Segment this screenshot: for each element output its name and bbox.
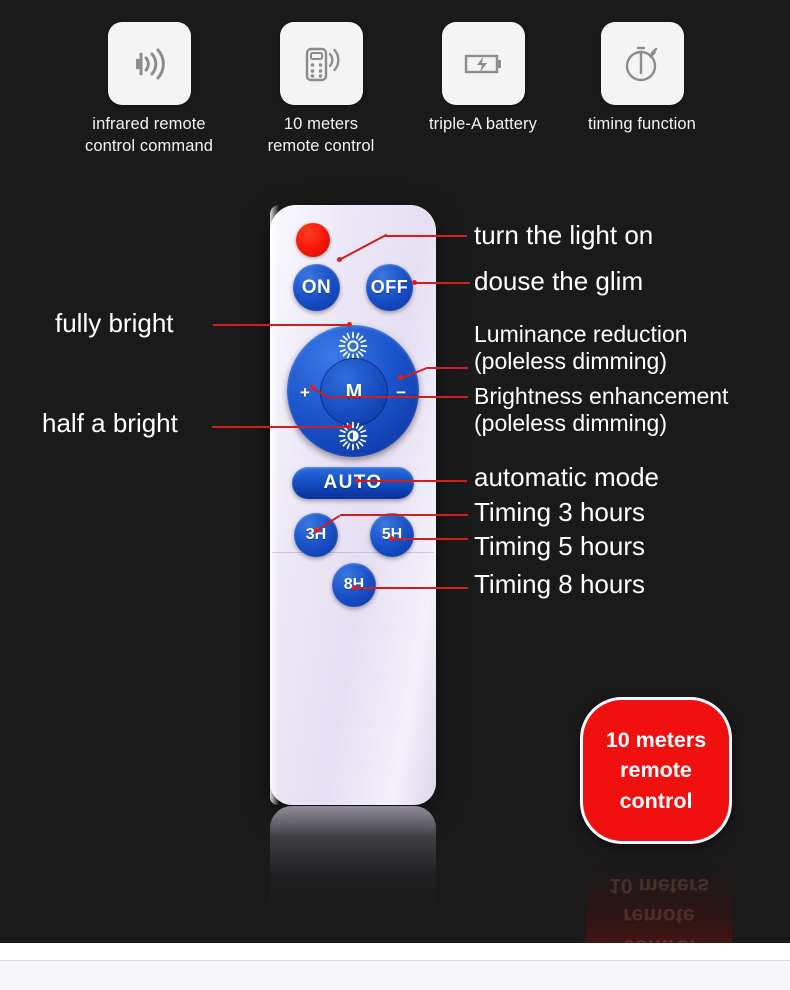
remote-control-body: ON OFF — [270, 205, 436, 805]
feature-triple-a-battery: triple-A battery — [408, 22, 558, 136]
annotation-timing-8-hours: Timing 8 hours — [474, 569, 645, 599]
annotation-timing-5-hours: Timing 5 hours — [474, 531, 645, 561]
leader-automatic-mode — [357, 480, 467, 482]
feature-caption: timing function — [572, 114, 712, 136]
stopwatch-icon — [618, 40, 666, 88]
on-button[interactable]: ON — [293, 264, 340, 311]
annotation-douse-the-glim: douse the glim — [474, 266, 643, 296]
bottom-strip — [0, 960, 790, 990]
annotation-turn-the-light-on: turn the light on — [474, 220, 653, 250]
dimmer-dial[interactable]: + − M — [287, 325, 419, 457]
remote-reflection — [270, 806, 436, 926]
product-feature-image: infrared remote control command — [0, 0, 790, 990]
indicator-led — [296, 223, 330, 257]
feature-caption: 10 meters remote control — [247, 114, 395, 158]
remote-signal-icon — [297, 40, 345, 88]
feature-10-meters-remote: 10 meters remote control — [247, 22, 395, 158]
feature-tile — [108, 22, 191, 105]
badge-reflection-line-2: remote — [623, 901, 695, 932]
range-badge: 10 meters remote control — [580, 697, 732, 844]
off-button[interactable]: OFF — [366, 264, 413, 311]
badge-reflection-line-3: control — [623, 931, 696, 943]
badge-line-3: control — [620, 786, 693, 817]
feature-caption: triple-A battery — [408, 114, 558, 136]
annotation-luminance-reduction: Luminance reduction (poleless dimming) — [474, 321, 688, 374]
leader-half-a-bright — [212, 426, 349, 428]
feature-infrared-remote: infrared remote control command — [63, 22, 235, 158]
badge-line-1: 10 meters — [606, 725, 706, 756]
feature-tile — [280, 22, 363, 105]
annotation-half-a-bright: half a bright — [42, 408, 178, 438]
auto-button[interactable]: AUTO — [292, 467, 414, 499]
feature-caption: infrared remote control command — [63, 114, 235, 158]
feature-tile — [601, 22, 684, 105]
sun-full-icon[interactable] — [338, 331, 368, 361]
battery-door-seam — [272, 552, 434, 553]
white-separator — [0, 943, 790, 960]
annotation-brightness-enhancement: Brightness enhancement (poleless dimming… — [474, 383, 728, 436]
leader-brightness-enhancement — [332, 396, 468, 398]
leader-luminance-reduction — [426, 367, 468, 369]
infrared-signal-icon — [125, 40, 173, 88]
feature-timing-function: timing function — [572, 22, 712, 136]
mode-button[interactable]: M — [320, 358, 388, 426]
badge-line-2: remote — [620, 755, 692, 786]
annotation-automatic-mode: automatic mode — [474, 462, 659, 492]
brightness-plus-label[interactable]: + — [300, 384, 310, 401]
leader-fully-bright — [213, 324, 349, 326]
battery-icon — [459, 40, 507, 88]
badge-reflection-line-1: 10 meters — [609, 870, 709, 901]
feature-icon-row: infrared remote control command — [0, 0, 790, 180]
range-badge-reflection: control remote 10 meters — [586, 848, 732, 943]
annotation-timing-3-hours: Timing 3 hours — [474, 497, 645, 527]
body-highlight — [270, 205, 279, 805]
leader-turn-the-light-on — [385, 235, 467, 237]
dark-stage: infrared remote control command — [0, 0, 790, 943]
leader-timing-8-hours — [354, 587, 468, 589]
feature-tile — [442, 22, 525, 105]
brightness-minus-label[interactable]: − — [396, 384, 406, 401]
leader-douse-the-glim — [414, 282, 470, 284]
timer-5h-button[interactable]: 5H — [370, 513, 414, 557]
leader-timing-5-hours — [391, 538, 468, 540]
annotation-fully-bright: fully bright — [55, 308, 174, 338]
leader-timing-3-hours — [340, 514, 468, 516]
